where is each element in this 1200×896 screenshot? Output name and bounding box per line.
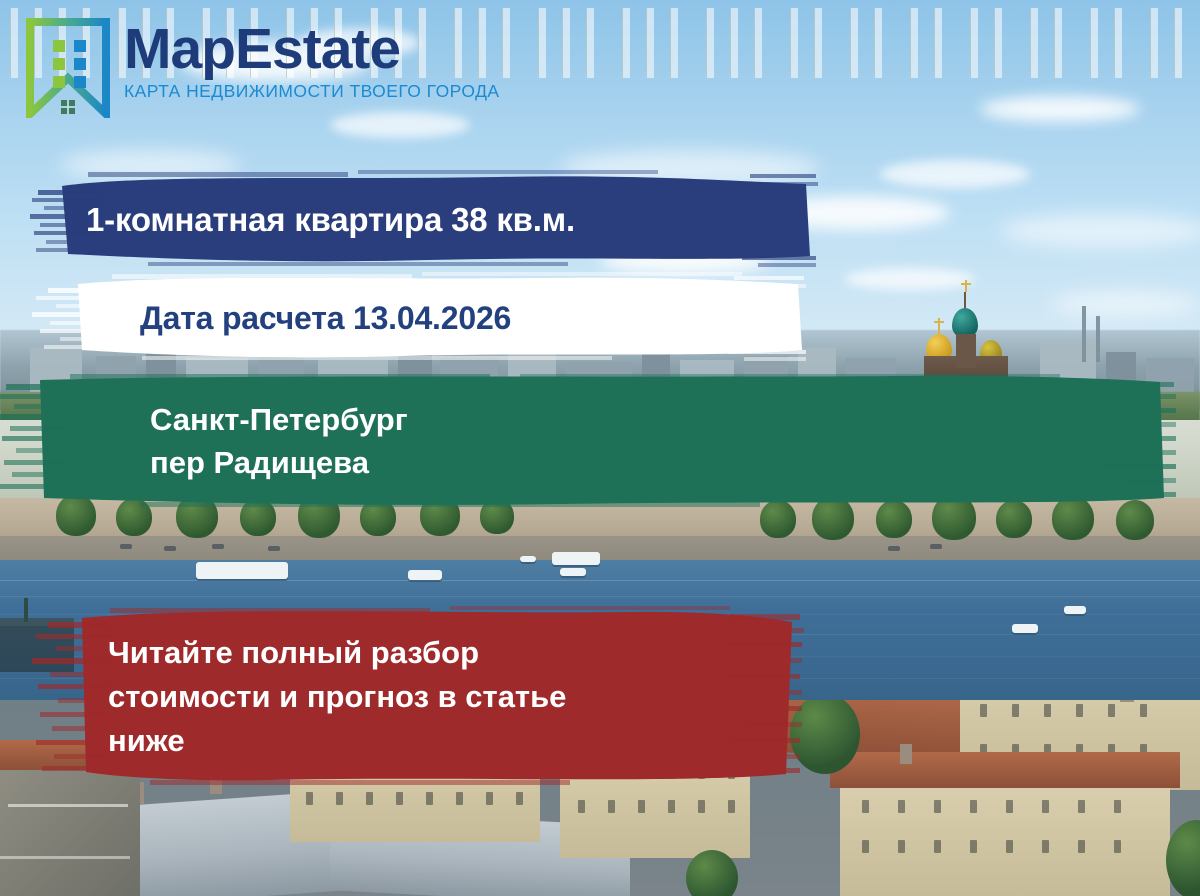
cta-line-2: стоимости и прогноз в статье xyxy=(108,675,760,719)
location-banner-text: Санкт-Петербург пер Радищева xyxy=(0,399,1178,485)
location-city: Санкт-Петербург xyxy=(150,399,1178,442)
brand-logo[interactable]: MapEstate КАРТА НЕДВИЖИМОСТИ ТВОЕГО ГОРО… xyxy=(26,18,500,118)
logo-tagline: КАРТА НЕДВИЖИМОСТИ ТВОЕГО ГОРОДА xyxy=(124,81,500,102)
cta-line-1: Читайте полный разбор xyxy=(108,631,760,675)
cta-line-3: ниже xyxy=(108,719,760,763)
promo-poster: MapEstate КАРТА НЕДВИЖИМОСТИ ТВОЕГО ГОРО… xyxy=(0,0,1200,896)
location-banner: Санкт-Петербург пер Радищева xyxy=(0,374,1178,510)
property-banner: 1-комнатная квартира 38 кв.м. xyxy=(28,168,820,272)
logo-word-map: Map xyxy=(124,17,235,81)
location-street: пер Радищева xyxy=(150,442,1178,485)
date-banner-text: Дата расчета 13.04.2026 xyxy=(22,300,812,337)
cta-banner[interactable]: Читайте полный разбор стоимости и прогно… xyxy=(30,604,820,790)
logo-wordmark: MapEstate xyxy=(124,22,500,78)
date-banner: Дата расчета 13.04.2026 xyxy=(22,272,812,364)
cta-banner-text: Читайте полный разбор стоимости и прогно… xyxy=(30,631,820,763)
bookmark-building-icon xyxy=(26,18,110,118)
logo-text-block: MapEstate КАРТА НЕДВИЖИМОСТИ ТВОЕГО ГОРО… xyxy=(124,18,500,102)
property-banner-text: 1-комнатная квартира 38 кв.м. xyxy=(28,201,820,239)
logo-word-estate: Estate xyxy=(235,17,400,81)
